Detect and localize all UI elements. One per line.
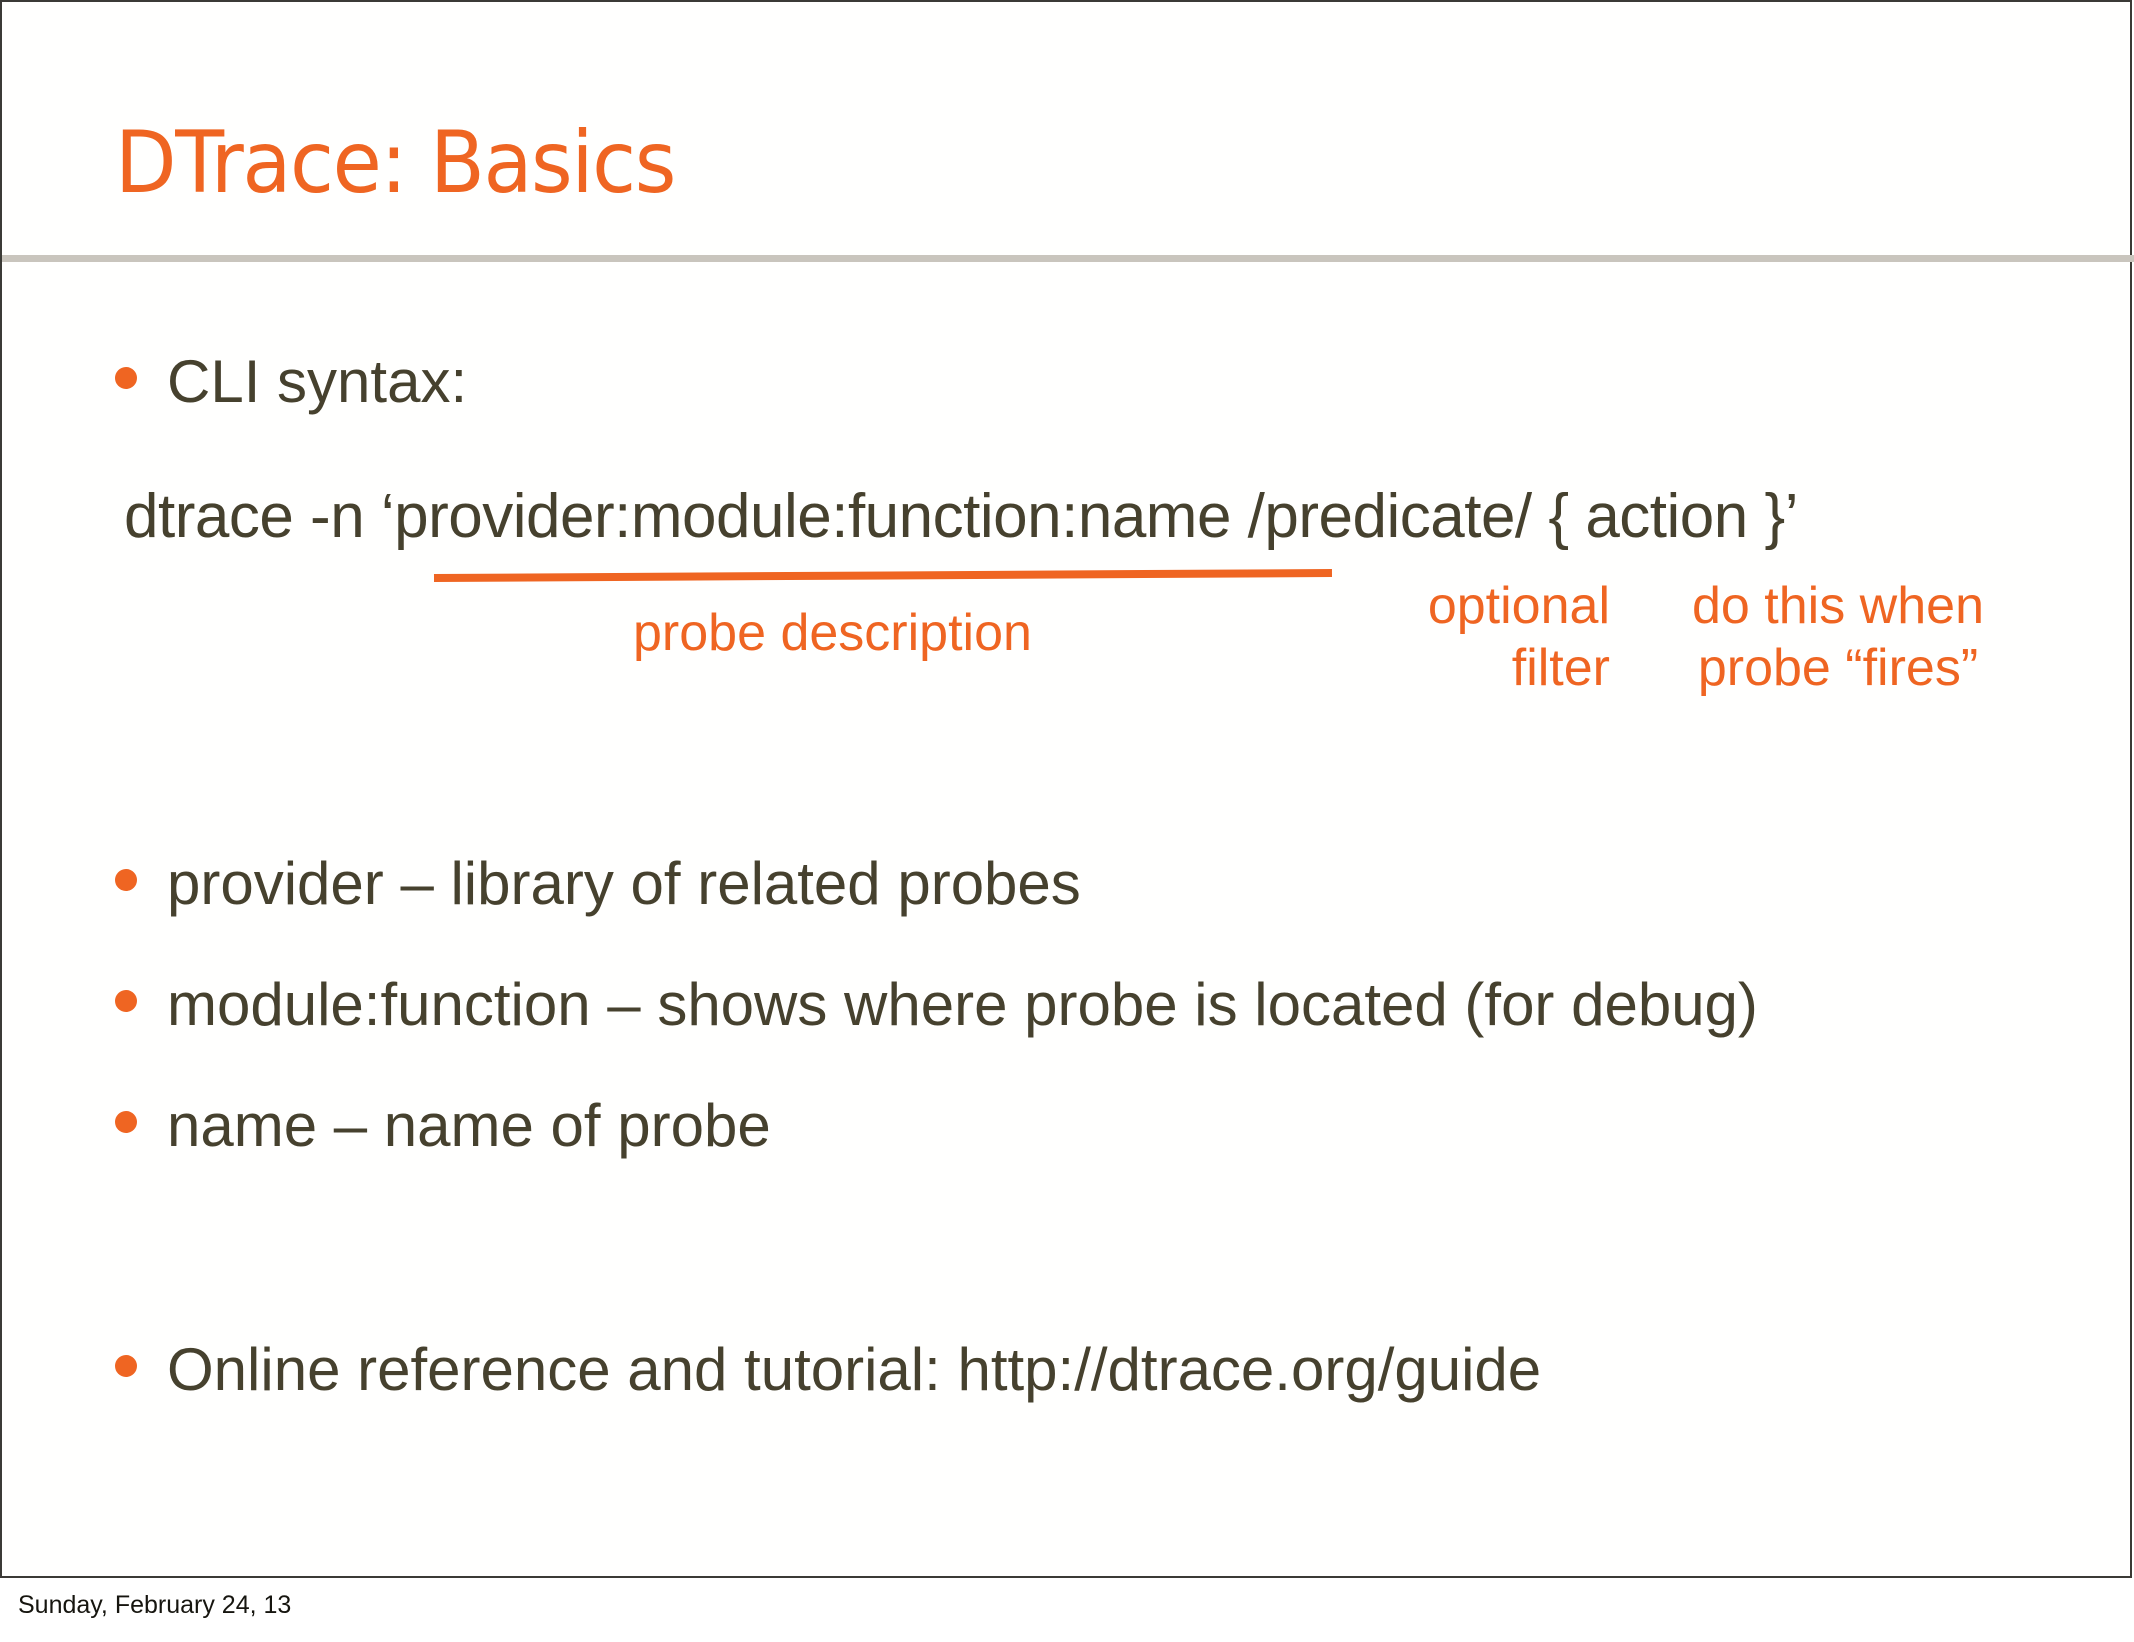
bullet-item-label: Online reference and tutorial: http://dt…	[167, 1340, 1541, 1400]
bullet-item-provider: provider – library of related probes	[115, 854, 1081, 914]
probe-description-underline	[434, 569, 1332, 582]
bullet-item-label: name – name of probe	[167, 1096, 771, 1156]
bullet-dot-icon	[115, 1355, 137, 1377]
slide-canvas: DTrace: Basics CLI syntax: dtrace -n ‘pr…	[0, 0, 2132, 1578]
annotation-optional-filter-line2: filter	[1382, 637, 1610, 699]
bullet-dot-icon	[115, 367, 137, 389]
annotation-optional-filter-line1: optional	[1382, 575, 1610, 637]
bullet-dot-icon	[115, 1111, 137, 1133]
bullet-item-name: name – name of probe	[115, 1096, 771, 1156]
cli-syntax-line: dtrace -n ‘provider:module:function:name…	[124, 486, 1798, 548]
slide-root: DTrace: Basics CLI syntax: dtrace -n ‘pr…	[0, 0, 2134, 1642]
annotation-probe-description: probe description	[633, 602, 1032, 664]
annotation-action-line1: do this when	[1666, 575, 2010, 637]
bullet-dot-icon	[115, 869, 137, 891]
page-title: DTrace: Basics	[115, 120, 1789, 206]
annotation-optional-filter: optional filter	[1382, 575, 1610, 700]
bullet-item-online-reference: Online reference and tutorial: http://dt…	[115, 1340, 1541, 1400]
bullet-item-label: CLI syntax:	[167, 352, 467, 412]
footer-date: Sunday, February 24, 13	[18, 1591, 291, 1620]
bullet-item-module-function: module:function – shows where probe is l…	[115, 975, 1758, 1035]
annotation-action: do this when probe “fires”	[1666, 575, 2010, 700]
bullet-item-cli-syntax: CLI syntax:	[115, 352, 467, 412]
annotation-action-line2: probe “fires”	[1666, 637, 2010, 699]
bullet-item-label: module:function – shows where probe is l…	[167, 975, 1758, 1035]
bullet-dot-icon	[115, 990, 137, 1012]
slide-title-block: DTrace: Basics	[115, 120, 1915, 230]
bullet-item-label: provider – library of related probes	[167, 854, 1081, 914]
title-divider	[2, 255, 2134, 262]
